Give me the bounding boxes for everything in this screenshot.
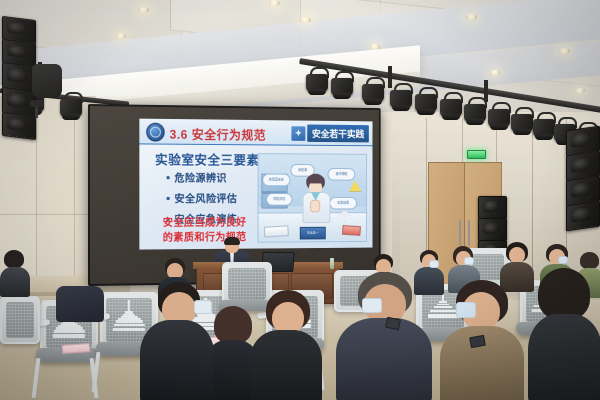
badge-sparkle-icon: ✦ bbox=[291, 126, 305, 141]
ceiling-downlight bbox=[466, 14, 477, 20]
slide-header-bar: 3.6 安全行为规范 ✦ 安全若干实践 bbox=[139, 119, 372, 147]
speaker-stack-right bbox=[566, 128, 600, 246]
coat-on-chair bbox=[56, 286, 104, 322]
water-bottle bbox=[330, 258, 334, 269]
ceiling-downlight bbox=[138, 7, 149, 13]
ceiling-downlight bbox=[575, 88, 585, 93]
face-mask bbox=[362, 298, 382, 313]
speaker-stack-left bbox=[2, 18, 36, 134]
illustration-laptop-label: 安全第一 bbox=[301, 231, 325, 235]
truss-drop-rod bbox=[388, 66, 392, 88]
ceiling-downlight bbox=[269, 0, 280, 6]
bullet-text: 安全风险评估 bbox=[174, 191, 237, 206]
illustration-open-book bbox=[264, 225, 289, 237]
bullet-text: 危险源辨识 bbox=[174, 170, 226, 185]
speech-bubble: 实验室安全 bbox=[262, 174, 290, 187]
lab-safety-illustration: 实验室安全 危险源 操作规程 应急处置 风险评估 安全 bbox=[258, 153, 367, 243]
face-mask bbox=[456, 302, 476, 318]
university-emblem-icon bbox=[146, 123, 165, 142]
bullet-dot-icon bbox=[167, 197, 170, 200]
illustration-red-book bbox=[342, 225, 361, 236]
slide-title: 3.6 安全行为规范 bbox=[170, 124, 266, 144]
bullet-dot-icon bbox=[167, 176, 170, 179]
equipment-case bbox=[32, 64, 62, 98]
door-handle[interactable] bbox=[468, 220, 470, 246]
face-mask bbox=[194, 300, 212, 314]
audience-member-front bbox=[528, 268, 600, 400]
speech-bubble: 风险评估 bbox=[266, 193, 292, 206]
slide-heading: 实验室安全三要素 bbox=[155, 149, 259, 168]
speech-bubble: 操作规程 bbox=[328, 168, 356, 181]
ceiling-downlight bbox=[490, 70, 500, 75]
audience-member-front bbox=[250, 290, 322, 400]
badge-label: 安全若干实践 bbox=[307, 124, 369, 142]
list-item: 危险源辨识 bbox=[167, 170, 238, 185]
ceiling-downlight bbox=[300, 17, 311, 23]
conference-hall-photo: 3.6 安全行为规范 ✦ 安全若干实践 实验室安全三要素 危险源辨识 安全风险评… bbox=[0, 0, 600, 400]
highlight-line-1: 安全应当成为良好 bbox=[163, 215, 247, 230]
list-item: 安全风险评估 bbox=[167, 191, 238, 206]
door-handle[interactable] bbox=[459, 220, 461, 246]
exit-sign bbox=[467, 150, 486, 159]
audience-member bbox=[0, 250, 30, 296]
handout-paper[interactable] bbox=[62, 343, 91, 354]
ceiling-downlight bbox=[116, 33, 126, 39]
illustration-laptop: 安全第一 bbox=[300, 227, 326, 240]
slide-section-badge: ✦ 安全若干实践 bbox=[291, 124, 368, 142]
audience-member-front bbox=[336, 272, 432, 400]
illustration-researcher bbox=[302, 174, 330, 228]
presentation-slide: 3.6 安全行为规范 ✦ 安全若干实践 实验室安全三要素 危险源辨识 安全风险评… bbox=[139, 119, 372, 250]
ceiling-downlight bbox=[559, 48, 570, 54]
speech-bubble: 应急处置 bbox=[329, 197, 357, 210]
